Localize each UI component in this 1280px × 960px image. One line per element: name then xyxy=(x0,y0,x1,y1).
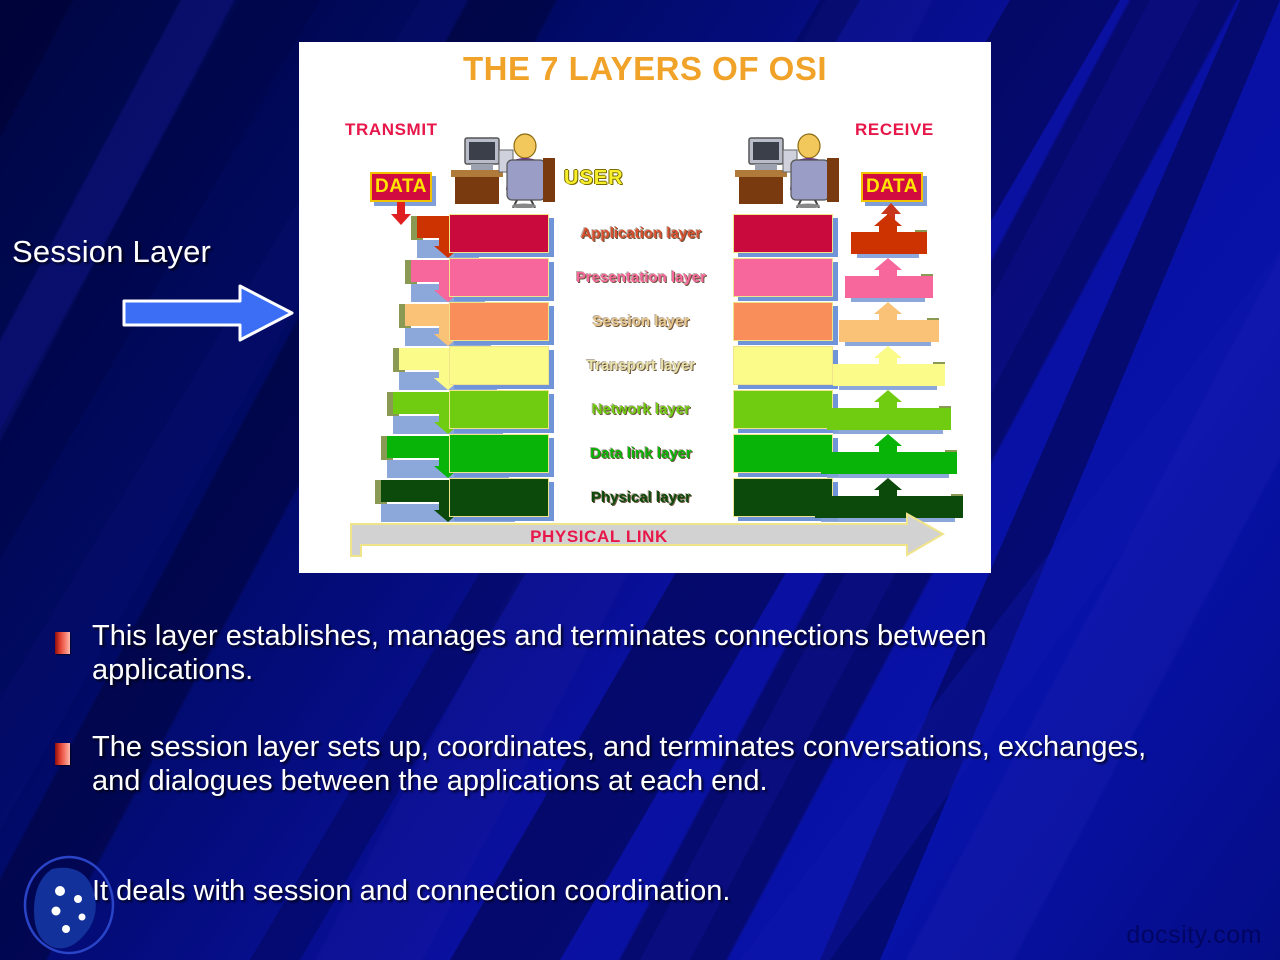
layer-block-receive xyxy=(733,346,833,385)
page-title: Session Layer xyxy=(12,234,211,270)
bullet-marker-icon xyxy=(55,743,70,765)
decorative-emblem-icon xyxy=(22,855,117,955)
bullet-text: It deals with session and connection coo… xyxy=(92,875,730,909)
computer-user-clipart-transmit xyxy=(447,130,557,208)
slide-canvas: Session Layer THE 7 LAYERS OF OSI TRANSM… xyxy=(0,0,1280,960)
layer-block-transmit xyxy=(449,302,549,341)
layer-row: Presentation layer xyxy=(299,258,991,303)
layer-row: Network layer xyxy=(299,390,991,435)
layer-name-label: Data link layer xyxy=(555,434,727,473)
layer-row: Data link layer xyxy=(299,434,991,479)
bullet-marker-icon xyxy=(55,632,70,654)
computer-user-clipart-receive xyxy=(731,130,841,208)
layer-block-transmit xyxy=(449,214,549,253)
layer-name-label: Session layer xyxy=(555,302,727,341)
layer-block-receive xyxy=(733,258,833,297)
layer-block-transmit xyxy=(449,434,549,473)
layer-block-transmit xyxy=(449,346,549,385)
watermark: docsity.com xyxy=(1126,921,1262,950)
layer-name-label: Network layer xyxy=(555,390,727,429)
receive-arrow-6 xyxy=(819,434,971,478)
layer-row: Session layer xyxy=(299,302,991,347)
receive-label: RECEIVE xyxy=(855,120,934,140)
layer-name-label: Application layer xyxy=(555,214,727,253)
receive-arrow-3 xyxy=(837,302,953,346)
layer-block-transmit xyxy=(449,390,549,429)
layer-block-receive xyxy=(733,302,833,341)
layer-row: Application layer xyxy=(299,214,991,259)
user-label: USER xyxy=(564,167,624,190)
receive-arrow-4 xyxy=(831,346,959,390)
receive-arrow-1 xyxy=(849,214,941,258)
physical-link-label: PHYSICAL LINK xyxy=(299,520,899,554)
receive-arrow-5 xyxy=(825,390,965,434)
receive-arrow-2 xyxy=(843,258,947,302)
right-arrow-icon xyxy=(122,283,294,343)
bullet-item: It deals with session and connection coo… xyxy=(55,875,1075,909)
layer-block-receive xyxy=(733,214,833,253)
bullet-text: This layer establishes, manages and term… xyxy=(92,620,1075,688)
layer-block-receive xyxy=(733,434,833,473)
layer-name-label: Presentation layer xyxy=(555,258,727,297)
transmit-label: TRANSMIT xyxy=(345,120,438,140)
layer-row: Transport layer xyxy=(299,346,991,391)
figure-title: THE 7 LAYERS OF OSI xyxy=(299,50,991,88)
data-tag-transmit: DATA xyxy=(370,172,432,202)
bullet-text: The session layer sets up, coordinates, … xyxy=(92,731,1195,799)
layer-block-transmit xyxy=(449,258,549,297)
data-tag-receive: DATA xyxy=(861,172,923,202)
osi-layers-figure: THE 7 LAYERS OF OSI TRANSMIT RECEIVE USE… xyxy=(299,42,991,573)
layer-block-receive xyxy=(733,390,833,429)
layer-name-label: Transport layer xyxy=(555,346,727,385)
bullet-item: This layer establishes, manages and term… xyxy=(55,620,1075,688)
bullet-item: The session layer sets up, coordinates, … xyxy=(55,731,1195,799)
